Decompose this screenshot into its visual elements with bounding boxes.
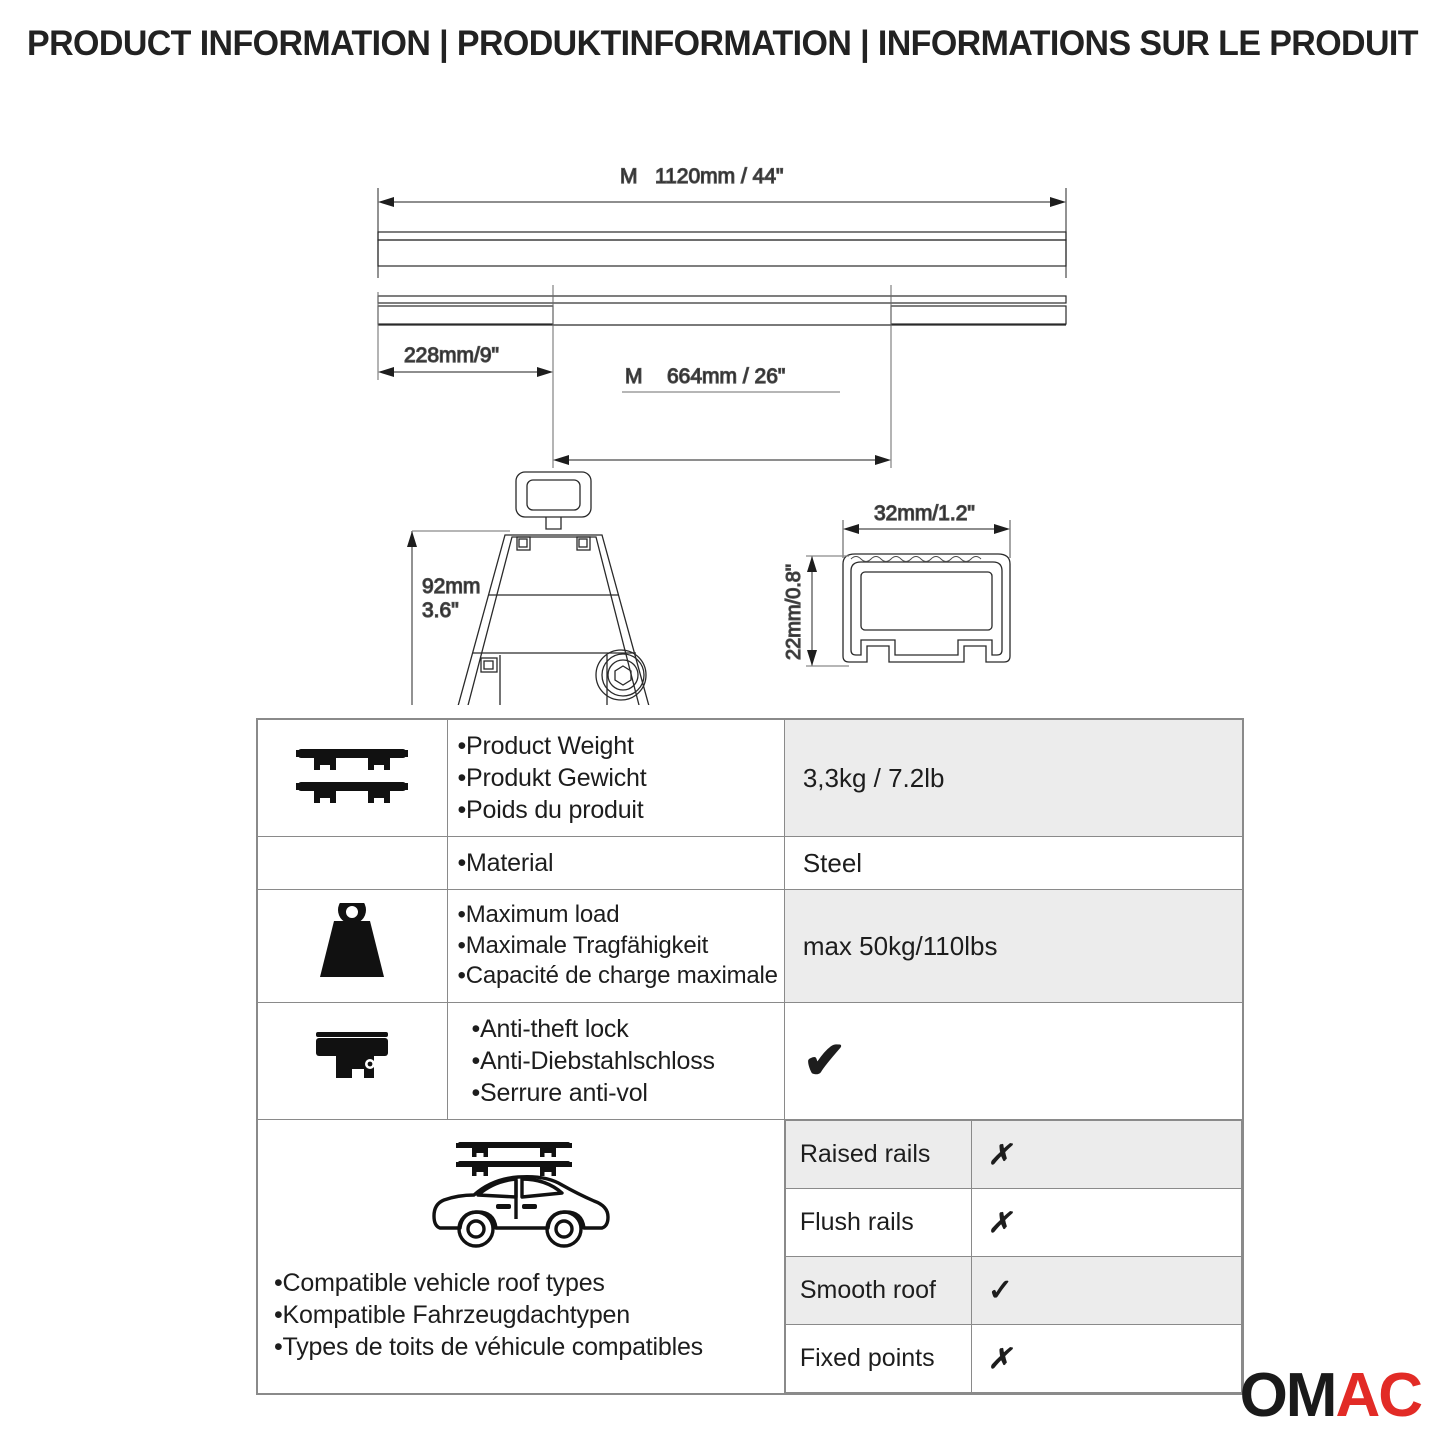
lock-icon <box>310 1028 394 1090</box>
logo-text-dark: OM <box>1240 1361 1336 1430</box>
dim-label-profile-width: 32mm/1.2" <box>874 502 975 525</box>
table-row: •Anti-theft lock •Anti-Diebstahlschloss … <box>257 1003 1243 1120</box>
roof-type-mark: ✗ <box>971 1121 1241 1189</box>
cross-icon: ✗ <box>988 1343 1011 1374</box>
label-line: •Product Weight <box>458 730 778 762</box>
label-line: •Maximum load <box>458 900 778 931</box>
dim-label-foot-height-mm: 92mm <box>422 575 480 598</box>
row-label-product-weight: •Product Weight •Produkt Gewicht •Poids … <box>447 719 784 837</box>
table-row: •Maximum load •Maximale Tragfähigkeit •C… <box>257 890 1243 1003</box>
crossbars-icon-cell <box>257 719 447 837</box>
dim-label-total-prefix: M <box>620 165 638 188</box>
label-line: •Kompatible Fahrzeugdachtypen <box>274 1299 772 1331</box>
dim-label-end-segment: 228mm/9" <box>404 344 499 367</box>
label-line: •Anti-Diebstahlschloss <box>472 1045 778 1077</box>
weight-icon-cell <box>257 890 447 1003</box>
dim-total-length <box>378 188 1066 278</box>
compat-left-cell: •Compatible vehicle roof types •Kompatib… <box>257 1120 784 1395</box>
dim-profile-width <box>843 520 1010 558</box>
profile-cross-section <box>843 554 1010 662</box>
omac-logo: OMAC <box>1240 1365 1421 1427</box>
check-icon: ✓ <box>988 1274 1013 1307</box>
label-line: •Material <box>458 847 778 879</box>
foot-front-view <box>455 472 652 705</box>
row-value-maximum-load: max 50kg/110lbs <box>784 890 1243 1003</box>
dim-label-total: 1120mm / 44" <box>655 165 783 188</box>
label-line: •Anti-theft lock <box>472 1013 778 1045</box>
dim-end-segment <box>378 367 553 377</box>
label-line: •Maximale Tragfähigkeit <box>458 931 778 962</box>
row-value-material: Steel <box>784 837 1243 890</box>
label-line: •Poids du produit <box>458 794 778 826</box>
label-line: •Serrure anti-vol <box>472 1077 778 1109</box>
label-line: •Capacité de charge maximale <box>458 961 778 992</box>
row-label-maximum-load: •Maximum load •Maximale Tragfähigkeit •C… <box>447 890 784 1003</box>
technical-drawing-area: M 1120mm / 44" 228mm/9" <box>0 80 1445 705</box>
roof-type-mark: ✗ <box>971 1189 1241 1257</box>
dim-label-profile-height: 22mm/0.8" <box>783 564 805 660</box>
empty-icon-cell <box>257 837 447 890</box>
specification-table: •Product Weight •Produkt Gewicht •Poids … <box>256 718 1244 1395</box>
row-value-anti-theft-lock: ✔ <box>784 1003 1243 1120</box>
logo-text-accent: AC <box>1335 1361 1421 1430</box>
roof-type-table: Raised rails ✗ Flush rails ✗ <box>785 1120 1242 1393</box>
cross-icon: ✗ <box>988 1139 1011 1170</box>
dim-span <box>553 392 891 465</box>
roof-type-row: Flush rails ✗ <box>785 1189 1241 1257</box>
checkmark-icon: ✔ <box>803 1032 847 1090</box>
roof-type-row: Smooth roof ✓ <box>785 1257 1241 1325</box>
page-title: PRODUCT INFORMATION | PRODUKTINFORMATION… <box>22 24 1424 64</box>
crossbar-second-view <box>378 296 1066 325</box>
crossbars-icon <box>292 741 412 811</box>
dim-label-foot-height-in: 3.6" <box>422 599 459 622</box>
car-with-rack-icon <box>416 1136 626 1256</box>
table-row: •Product Weight •Produkt Gewicht •Poids … <box>257 719 1243 837</box>
roof-type-name: Flush rails <box>785 1189 971 1257</box>
roof-type-mark: ✗ <box>971 1325 1241 1393</box>
label-line: •Compatible vehicle roof types <box>274 1267 772 1299</box>
row-value-product-weight: 3,3kg / 7.2lb <box>784 719 1243 837</box>
roof-type-name: Smooth roof <box>785 1257 971 1325</box>
table-row: •Material Steel <box>257 837 1243 890</box>
roof-type-name: Fixed points <box>785 1325 971 1393</box>
roof-type-name: Raised rails <box>785 1121 971 1189</box>
dim-label-span: 664mm / 26" <box>667 365 785 388</box>
label-line: •Types de toits de véhicule compatibles <box>274 1331 772 1363</box>
cross-icon: ✗ <box>988 1207 1011 1238</box>
crossbar-top-view <box>378 232 1066 266</box>
lock-icon-cell <box>257 1003 447 1120</box>
roof-type-mark: ✓ <box>971 1257 1241 1325</box>
lock-cylinder-icon <box>596 650 646 700</box>
roof-type-row: Raised rails ✗ <box>785 1121 1241 1189</box>
table-row-compatibility: •Compatible vehicle roof types •Kompatib… <box>257 1120 1243 1395</box>
row-label-material: •Material <box>447 837 784 890</box>
roof-type-row: Fixed points ✗ <box>785 1325 1241 1393</box>
dim-label-span-prefix: M <box>625 365 643 388</box>
weight-icon <box>312 903 392 985</box>
label-line: •Produkt Gewicht <box>458 762 778 794</box>
compat-right-cell: Raised rails ✗ Flush rails ✗ <box>784 1120 1243 1395</box>
row-label-anti-theft-lock: •Anti-theft lock •Anti-Diebstahlschloss … <box>447 1003 784 1120</box>
